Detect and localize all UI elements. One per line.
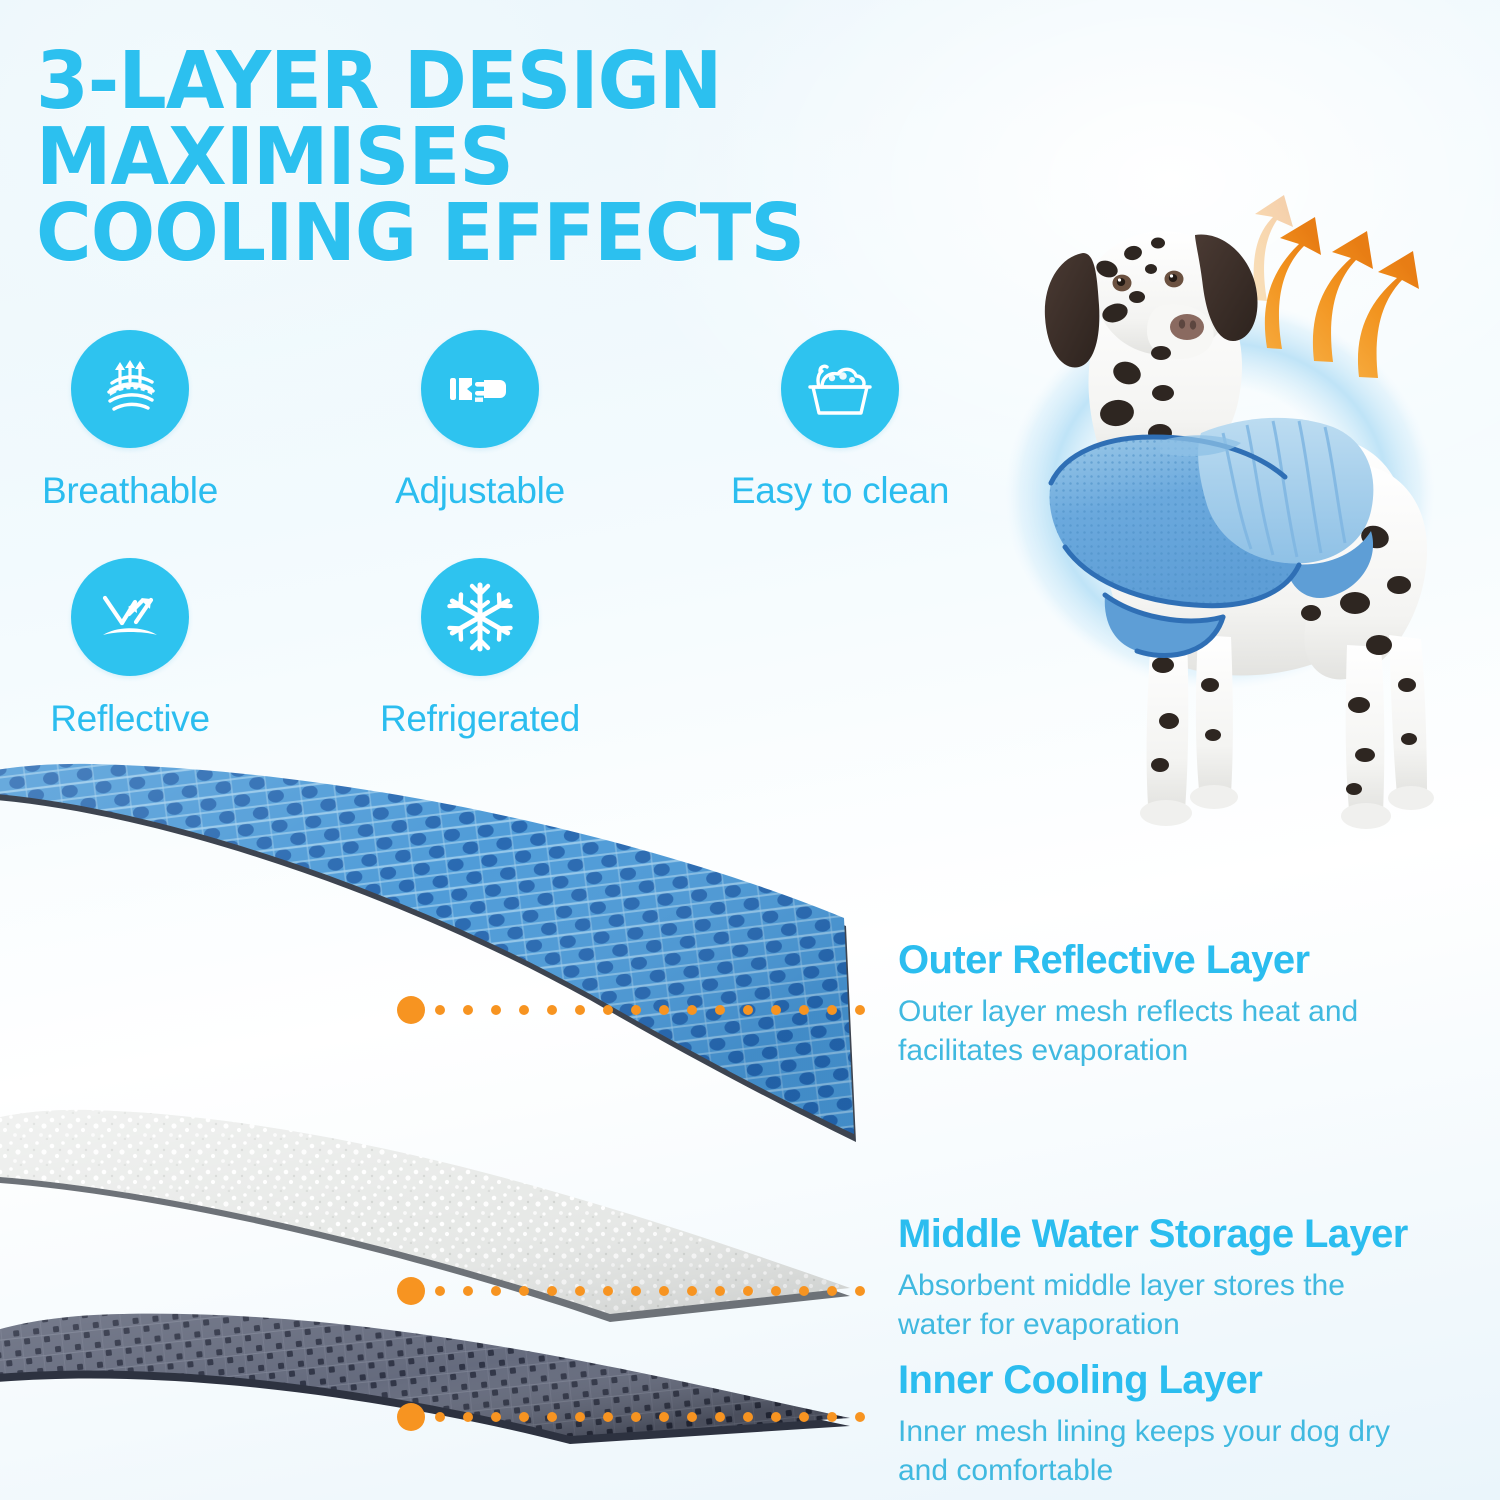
feature-grid: Breathable Adjustable (0, 330, 1000, 786)
three-layer-diagram (0, 750, 890, 1500)
snowflake-icon (421, 558, 539, 676)
callout-inner-cooling-layer: Inner Cooling Layer Inner mesh lining ke… (898, 1358, 1418, 1490)
feature-label: Reflective (0, 698, 280, 740)
layer-middle-water-storage (0, 1110, 850, 1322)
callout-description: Absorbent middle layer stores the water … (898, 1266, 1418, 1344)
callout-title: Inner Cooling Layer (898, 1358, 1418, 1403)
feature-adjustable: Adjustable (330, 330, 630, 512)
feature-label: Easy to clean (690, 470, 990, 512)
wash-basin-suds-icon (781, 330, 899, 448)
feature-reflective: Reflective (0, 558, 280, 740)
breathable-fabric-arrows-icon (71, 330, 189, 448)
callout-description: Outer layer mesh reflects heat and facil… (898, 992, 1418, 1070)
callout-outer-reflective-layer: Outer Reflective Layer Outer layer mesh … (898, 938, 1418, 1070)
callout-description: Inner mesh lining keeps your dog dry and… (898, 1412, 1418, 1490)
feature-breathable: Breathable (0, 330, 280, 512)
buckle-clip-icon (421, 330, 539, 448)
page-title-line-1: 3-LAYER DESIGN MAXIMISES (36, 35, 721, 203)
infographic-page: 3-LAYER DESIGN MAXIMISES COOLING EFFECTS (0, 0, 1500, 1500)
product-photo-dog-in-vest (955, 165, 1500, 905)
feature-easy-to-clean: Easy to clean (690, 330, 990, 512)
callout-title: Outer Reflective Layer (898, 938, 1418, 983)
callout-middle-water-storage-layer: Middle Water Storage Layer Absorbent mid… (898, 1212, 1418, 1344)
feature-label: Adjustable (330, 470, 630, 512)
reflecting-rays-icon (71, 558, 189, 676)
heat-arrow (1358, 251, 1419, 378)
feature-refrigerated: Refrigerated (330, 558, 630, 740)
feature-row-1: Breathable Adjustable (0, 330, 1000, 558)
callout-title: Middle Water Storage Layer (898, 1212, 1418, 1257)
feature-label: Breathable (0, 470, 280, 512)
layer-outer-reflective (0, 764, 856, 1142)
feature-label: Refrigerated (330, 698, 630, 740)
layer-inner-cooling (0, 1314, 850, 1444)
